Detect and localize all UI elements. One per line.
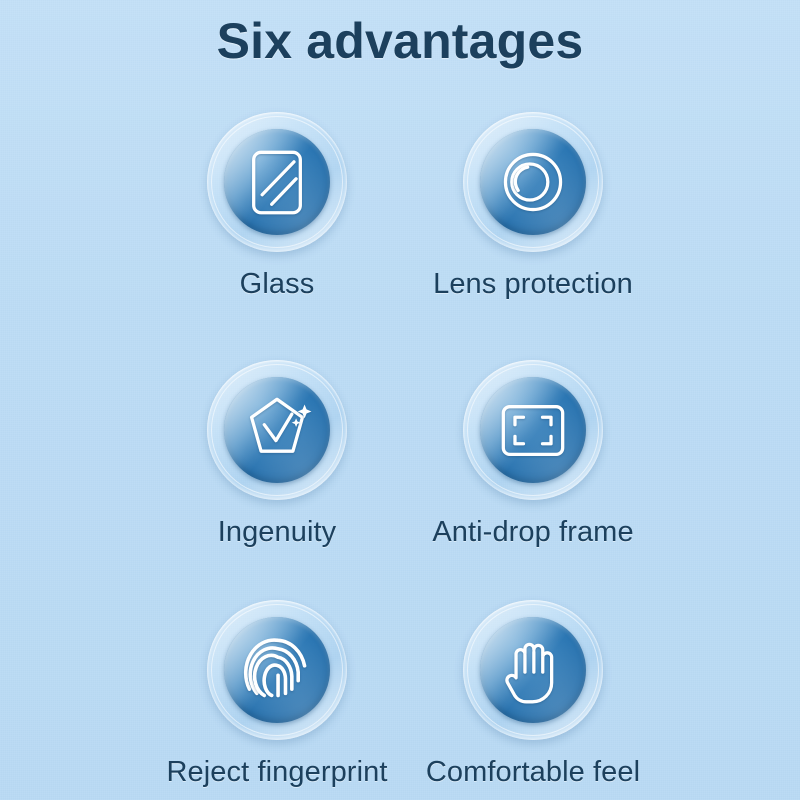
feature-badge — [463, 112, 603, 252]
promo-page: Six advantages Glass — [0, 0, 800, 800]
feature-item-lens-protection[interactable]: Lens protection — [388, 112, 678, 301]
badge-sheen-secondary — [480, 129, 586, 235]
badge-disc — [224, 377, 330, 483]
feature-label: Lens protection — [388, 268, 678, 301]
badge-disc — [480, 377, 586, 483]
badge-sheen — [480, 617, 586, 723]
feature-label: Anti-drop frame — [388, 516, 678, 549]
badge-sheen — [224, 129, 330, 235]
badge-sheen — [224, 377, 330, 483]
feature-badge — [207, 112, 347, 252]
feature-label: Ingenuity — [132, 516, 422, 549]
feature-badge — [207, 600, 347, 740]
feature-item-comfortable-feel[interactable]: Comfortable feel — [388, 600, 678, 789]
badge-disc — [224, 129, 330, 235]
feature-item-anti-drop-frame[interactable]: Anti-drop frame — [388, 360, 678, 549]
badge-sheen-secondary — [224, 129, 330, 235]
feature-item-glass[interactable]: Glass — [132, 112, 422, 301]
badge-sheen-secondary — [480, 377, 586, 483]
feature-badge — [463, 360, 603, 500]
feature-item-ingenuity[interactable]: Ingenuity — [132, 360, 422, 549]
badge-sheen-secondary — [224, 377, 330, 483]
feature-label: Reject fingerprint — [132, 756, 422, 789]
badge-disc — [480, 617, 586, 723]
page-title: Six advantages — [0, 12, 800, 70]
badge-sheen-secondary — [480, 617, 586, 723]
feature-grid: Glass Lens protection — [0, 112, 800, 792]
feature-label: Glass — [132, 268, 422, 301]
badge-sheen — [480, 129, 586, 235]
badge-disc — [224, 617, 330, 723]
badge-sheen — [480, 377, 586, 483]
feature-item-reject-fingerprint[interactable]: Reject fingerprint — [132, 600, 422, 789]
badge-sheen-secondary — [224, 617, 330, 723]
feature-badge — [463, 600, 603, 740]
feature-badge — [207, 360, 347, 500]
feature-label: Comfortable feel — [388, 756, 678, 789]
badge-disc — [480, 129, 586, 235]
badge-sheen — [224, 617, 330, 723]
